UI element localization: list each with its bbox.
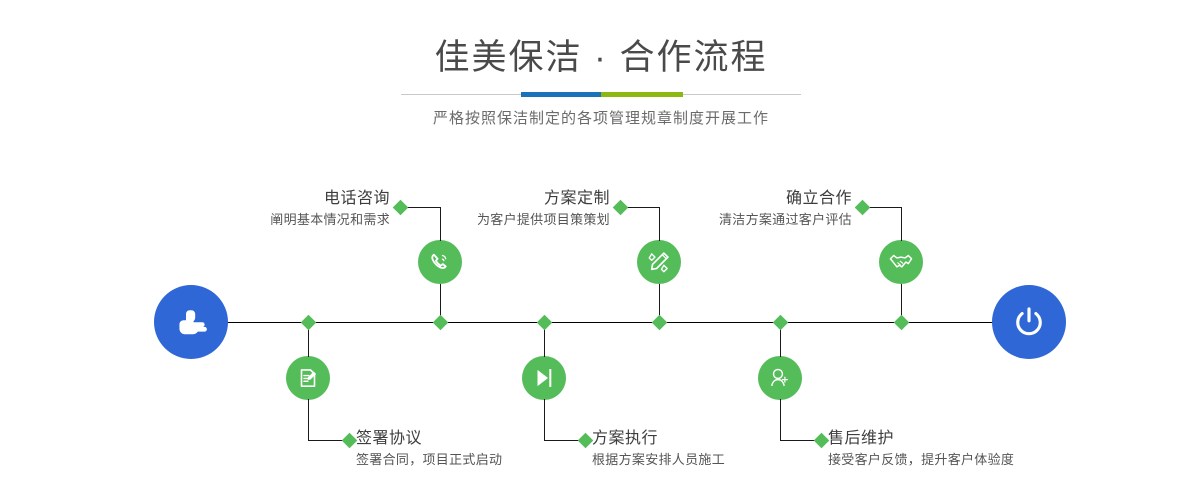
power-icon — [1009, 302, 1049, 342]
step-label-3: 方案定制 为客户提供项目策策划 — [370, 188, 610, 230]
step-desc-5: 清洁方案通过客户评估 — [612, 210, 852, 230]
step-title-6: 售后维护 — [828, 428, 1108, 450]
step-desc-6: 接受客户反馈，提升客户体验度 — [828, 450, 1108, 470]
axis-diamond-2 — [301, 315, 317, 331]
step-label-2: 签署协议 签署合同，项目正式启动 — [356, 428, 616, 470]
timeline-node-6[interactable] — [758, 356, 802, 400]
connector-2-vertical — [308, 399, 309, 440]
step-label-1: 电话咨询 阐明基本情况和需求 — [150, 188, 390, 230]
step-title-1: 电话咨询 — [150, 188, 390, 210]
axis-diamond-4 — [537, 315, 553, 331]
step-label-5: 确立合作 清洁方案通过客户评估 — [612, 188, 852, 230]
connector-5-vertical — [901, 207, 902, 241]
timeline-node-3[interactable] — [637, 240, 681, 284]
pointing-hand-icon — [170, 301, 212, 343]
axis-diamond-1 — [433, 315, 449, 331]
timeline-start-node[interactable] — [154, 285, 228, 359]
customer-service-add-icon — [767, 365, 793, 391]
axis-diamond-5 — [894, 315, 910, 331]
pencil-ruler-icon — [646, 249, 672, 275]
play-execute-icon — [531, 365, 557, 391]
step-title-5: 确立合作 — [612, 188, 852, 210]
timeline-node-4[interactable] — [522, 356, 566, 400]
connector-4-vertical — [544, 399, 545, 440]
step-label-4: 方案执行 根据方案安排人员施工 — [592, 428, 852, 470]
step-desc-1: 阐明基本情况和需求 — [150, 210, 390, 230]
diamond-marker-2 — [342, 433, 358, 449]
handshake-icon — [888, 249, 914, 275]
timeline-node-5[interactable] — [879, 240, 923, 284]
step-desc-3: 为客户提供项目策策划 — [370, 210, 610, 230]
step-title-4: 方案执行 — [592, 428, 852, 450]
step-desc-4: 根据方案安排人员施工 — [592, 450, 852, 470]
step-title-2: 签署协议 — [356, 428, 616, 450]
axis-diamond-3 — [652, 315, 668, 331]
connector-6-vertical — [780, 399, 781, 440]
timeline: 电话咨询 阐明基本情况和需求 签署协议 签署合同，项目正式启动 — [0, 0, 1202, 502]
axis-diamond-6 — [773, 315, 789, 331]
timeline-node-2[interactable] — [286, 356, 330, 400]
step-title-3: 方案定制 — [370, 188, 610, 210]
step-desc-2: 签署合同，项目正式启动 — [356, 450, 616, 470]
phone-call-icon — [427, 249, 453, 275]
process-flow-infographic: 佳美保洁 · 合作流程 严格按照保洁制定的各项管理规章制度开展工作 — [0, 0, 1202, 502]
timeline-end-node[interactable] — [992, 285, 1066, 359]
document-sign-icon — [295, 365, 321, 391]
diamond-marker-5 — [855, 200, 871, 216]
timeline-node-1[interactable] — [418, 240, 462, 284]
step-label-6: 售后维护 接受客户反馈，提升客户体验度 — [828, 428, 1108, 470]
